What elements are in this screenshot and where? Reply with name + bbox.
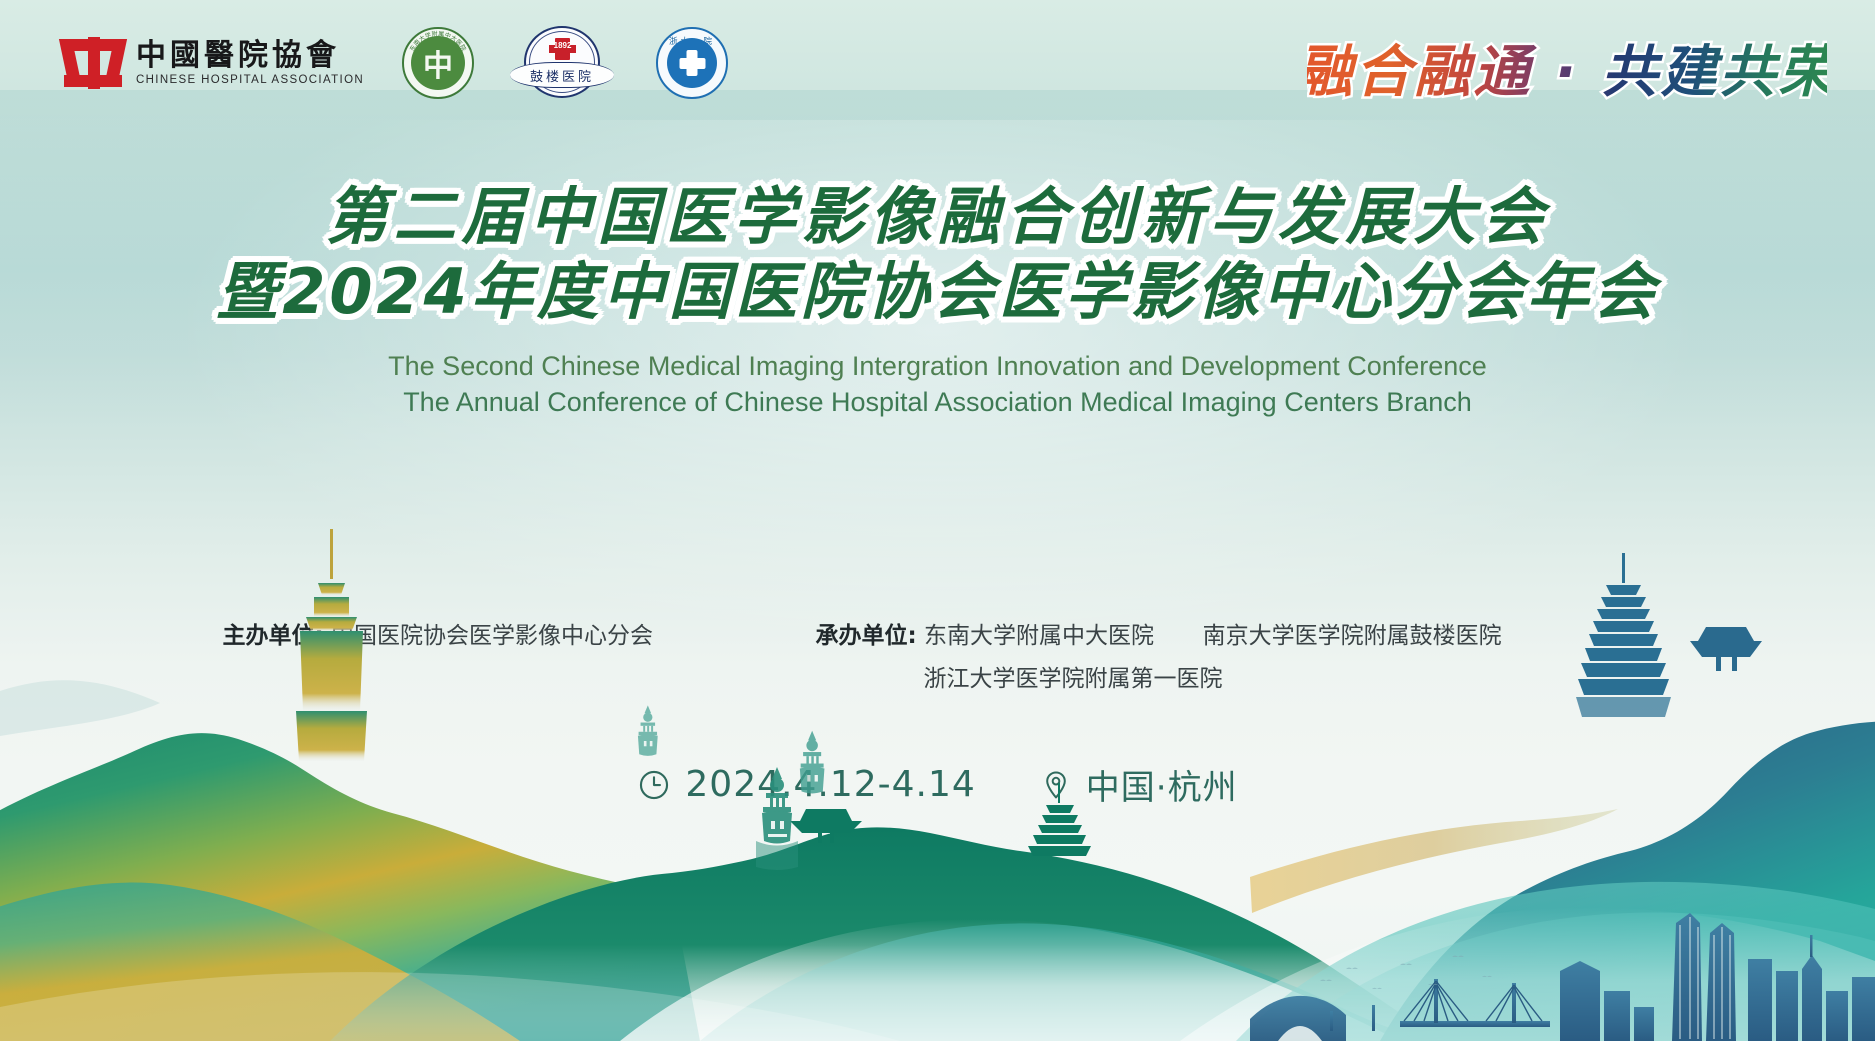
medical-cross-icon	[687, 50, 698, 76]
coorganizer-1: 东南大学附属中大医院	[924, 623, 1154, 649]
coorganizer-line-2: 浙江大学医学院附属第一医院	[924, 658, 1502, 701]
cha-name-en: CHINESE HOSPITAL ASSOCIATION	[136, 74, 364, 86]
title-en-line1: The Second Chinese Medical Imaging Inter…	[0, 349, 1875, 385]
event-location-text: 中国·杭州	[1086, 760, 1238, 809]
slogan-svg: 融合融通 · 共建共荣	[1307, 27, 1827, 113]
title-en-line2: The Annual Conference of Chinese Hospita…	[0, 385, 1875, 421]
map-pin-icon	[1040, 768, 1072, 802]
logo-row: 中國醫院協會 CHINESE HOSPITAL ASSOCIATION 东南大学…	[64, 26, 728, 100]
event-date: 2024.4.12-4.14	[637, 764, 975, 805]
gulou-name-cn: 鼓楼医院	[530, 66, 594, 85]
host-label: 主办单位:	[223, 623, 324, 649]
gulou-ribbon: 鼓楼医院	[510, 62, 614, 88]
pavilion-right	[1690, 627, 1762, 671]
host-value: 中国医院协会医学影像中心分会	[331, 623, 653, 649]
poster-header: 中國醫院協會 CHINESE HOSPITAL ASSOCIATION 东南大学…	[0, 0, 1875, 140]
conference-poster: 中國醫院協會 CHINESE HOSPITAL ASSOCIATION 东南大学…	[0, 0, 1875, 1041]
clock-icon	[637, 768, 671, 802]
city-skyline	[1250, 913, 1875, 1041]
cha-logo-text: 中國醫院協會 CHINESE HOSPITAL ASSOCIATION	[136, 40, 364, 87]
gulou-founding-year: 1892	[552, 41, 573, 50]
slogan-text: 融合融通 · 共建共荣	[1307, 40, 1827, 105]
pavilion-center	[790, 809, 862, 843]
pagoda-right	[1576, 553, 1671, 717]
bird-flock	[1320, 956, 1492, 990]
host-organizer: 主办单位: 中国医院协会医学影像中心分会	[223, 615, 654, 658]
slogan-calligraphy: 融合融通 · 共建共荣	[1307, 26, 1827, 114]
coorganizer-2: 南京大学医学院附属鼓楼医院	[1203, 623, 1502, 649]
event-location: 中国·杭州	[1040, 760, 1238, 809]
event-meta: 2024.4.12-4.14 中国·杭州	[0, 760, 1875, 809]
title-en-block: The Second Chinese Medical Imaging Inter…	[0, 349, 1875, 420]
event-date-text: 2024.4.12-4.14	[685, 764, 975, 805]
title-cn-line2: 暨2024年度中国医院协会医学影像中心分会年会	[0, 257, 1875, 326]
coorganizer-label: 承办单位:	[816, 623, 917, 649]
zhongda-seal-glyph: 中	[402, 27, 474, 99]
coorganizer-3: 浙江大学医学院附属第一医院	[924, 666, 1223, 692]
title-block: 第二届中国医学影像融合创新与发展大会 暨2024年度中国医院协会医学影像中心分会…	[0, 182, 1875, 420]
logo-zhongda-hospital: 东南大学附属中大医院 ZHONGDA HOSPITAL · SOUTHEAST …	[402, 27, 474, 99]
cha-name-cn: 中國醫院協會	[136, 40, 364, 72]
title-cn-line1: 第二届中国医学影像融合创新与发展大会	[0, 182, 1875, 251]
coorganizer-line-1: 承办单位: 东南大学附属中大医院 南京大学医学院附属鼓楼医院	[816, 615, 1502, 658]
logo-drum-tower-hospital: 1892 鼓楼医院	[510, 26, 614, 100]
coorganizers: 承办单位: 东南大学附属中大医院 南京大学医学院附属鼓楼医院 浙江大学医学院附属…	[816, 615, 1502, 700]
logo-zju-first-hospital: 浙大一院	[656, 27, 728, 99]
logo-chinese-hospital-association: 中國醫院協會 CHINESE HOSPITAL ASSOCIATION	[64, 35, 364, 91]
cha-emblem-icon	[64, 35, 122, 91]
